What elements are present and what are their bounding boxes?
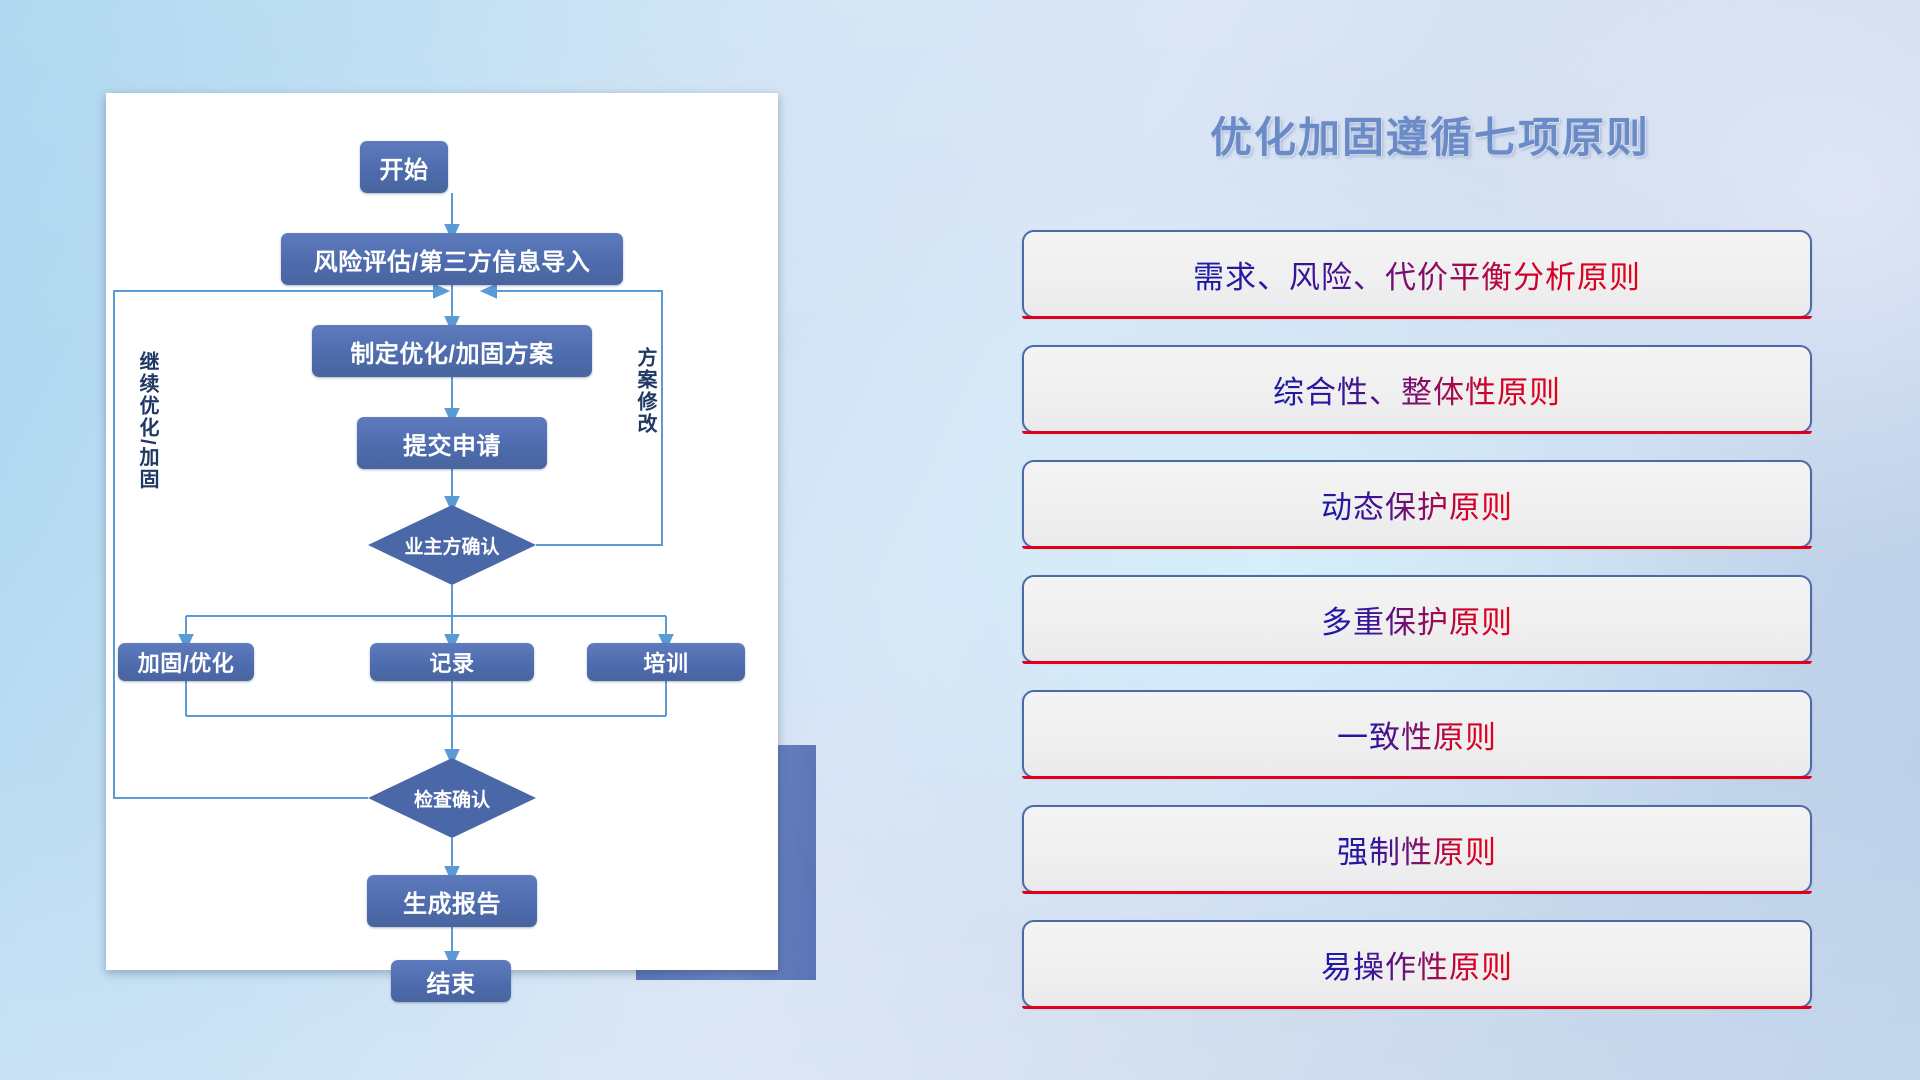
principle-item-1[interactable]: 需求、风险、代价平衡分析原则 <box>1022 230 1812 318</box>
principle-label-3: 动态保护原则 <box>1321 482 1513 527</box>
principles-list: 需求、风险、代价平衡分析原则 综合性、整体性原则 动态保护原则 多重保护原则 一… <box>1022 230 1812 1035</box>
flow-node-risk-assessment[interactable]: 风险评估/第三方信息导入 <box>281 233 623 285</box>
flow-node-reinforce-optimize[interactable]: 加固/优化 <box>118 643 254 681</box>
edge-label-plan-revision: 方案修改 <box>634 347 655 435</box>
principle-label-4: 多重保护原则 <box>1321 597 1513 642</box>
principle-item-7[interactable]: 易操作性原则 <box>1022 920 1812 1008</box>
flow-node-check-confirm-label: 检查确认 <box>368 758 536 838</box>
principle-label-6: 强制性原则 <box>1337 827 1497 872</box>
principle-item-3[interactable]: 动态保护原则 <box>1022 460 1812 548</box>
flow-node-start[interactable]: 开始 <box>360 141 448 193</box>
principle-label-2: 综合性、整体性原则 <box>1273 367 1561 412</box>
principle-item-2[interactable]: 综合性、整体性原则 <box>1022 345 1812 433</box>
principle-label-1: 需求、风险、代价平衡分析原则 <box>1193 252 1641 297</box>
principle-item-5[interactable]: 一致性原则 <box>1022 690 1812 778</box>
flowchart-card: 开始 风险评估/第三方信息导入 制定优化/加固方案 提交申请 业主方确认 加固/… <box>106 93 778 970</box>
flow-node-end[interactable]: 结束 <box>391 960 511 1002</box>
flow-node-owner-confirm[interactable]: 业主方确认 <box>368 505 536 585</box>
flow-node-submit-application[interactable]: 提交申请 <box>357 417 547 469</box>
flow-node-owner-confirm-label: 业主方确认 <box>368 505 536 585</box>
flow-node-check-confirm[interactable]: 检查确认 <box>368 758 536 838</box>
principle-item-4[interactable]: 多重保护原则 <box>1022 575 1812 663</box>
flow-node-plan[interactable]: 制定优化/加固方案 <box>312 325 592 377</box>
flow-node-record[interactable]: 记录 <box>370 643 534 681</box>
flow-node-training[interactable]: 培训 <box>587 643 745 681</box>
principle-item-6[interactable]: 强制性原则 <box>1022 805 1812 893</box>
principle-label-7: 易操作性原则 <box>1321 942 1513 987</box>
flow-node-generate-report[interactable]: 生成报告 <box>367 875 537 927</box>
right-panel-title: 优化加固遵循七项原则 <box>1030 104 1830 165</box>
edge-label-continue-optimize: 继续优化/加固 <box>136 351 157 491</box>
principle-label-5: 一致性原则 <box>1337 712 1497 757</box>
